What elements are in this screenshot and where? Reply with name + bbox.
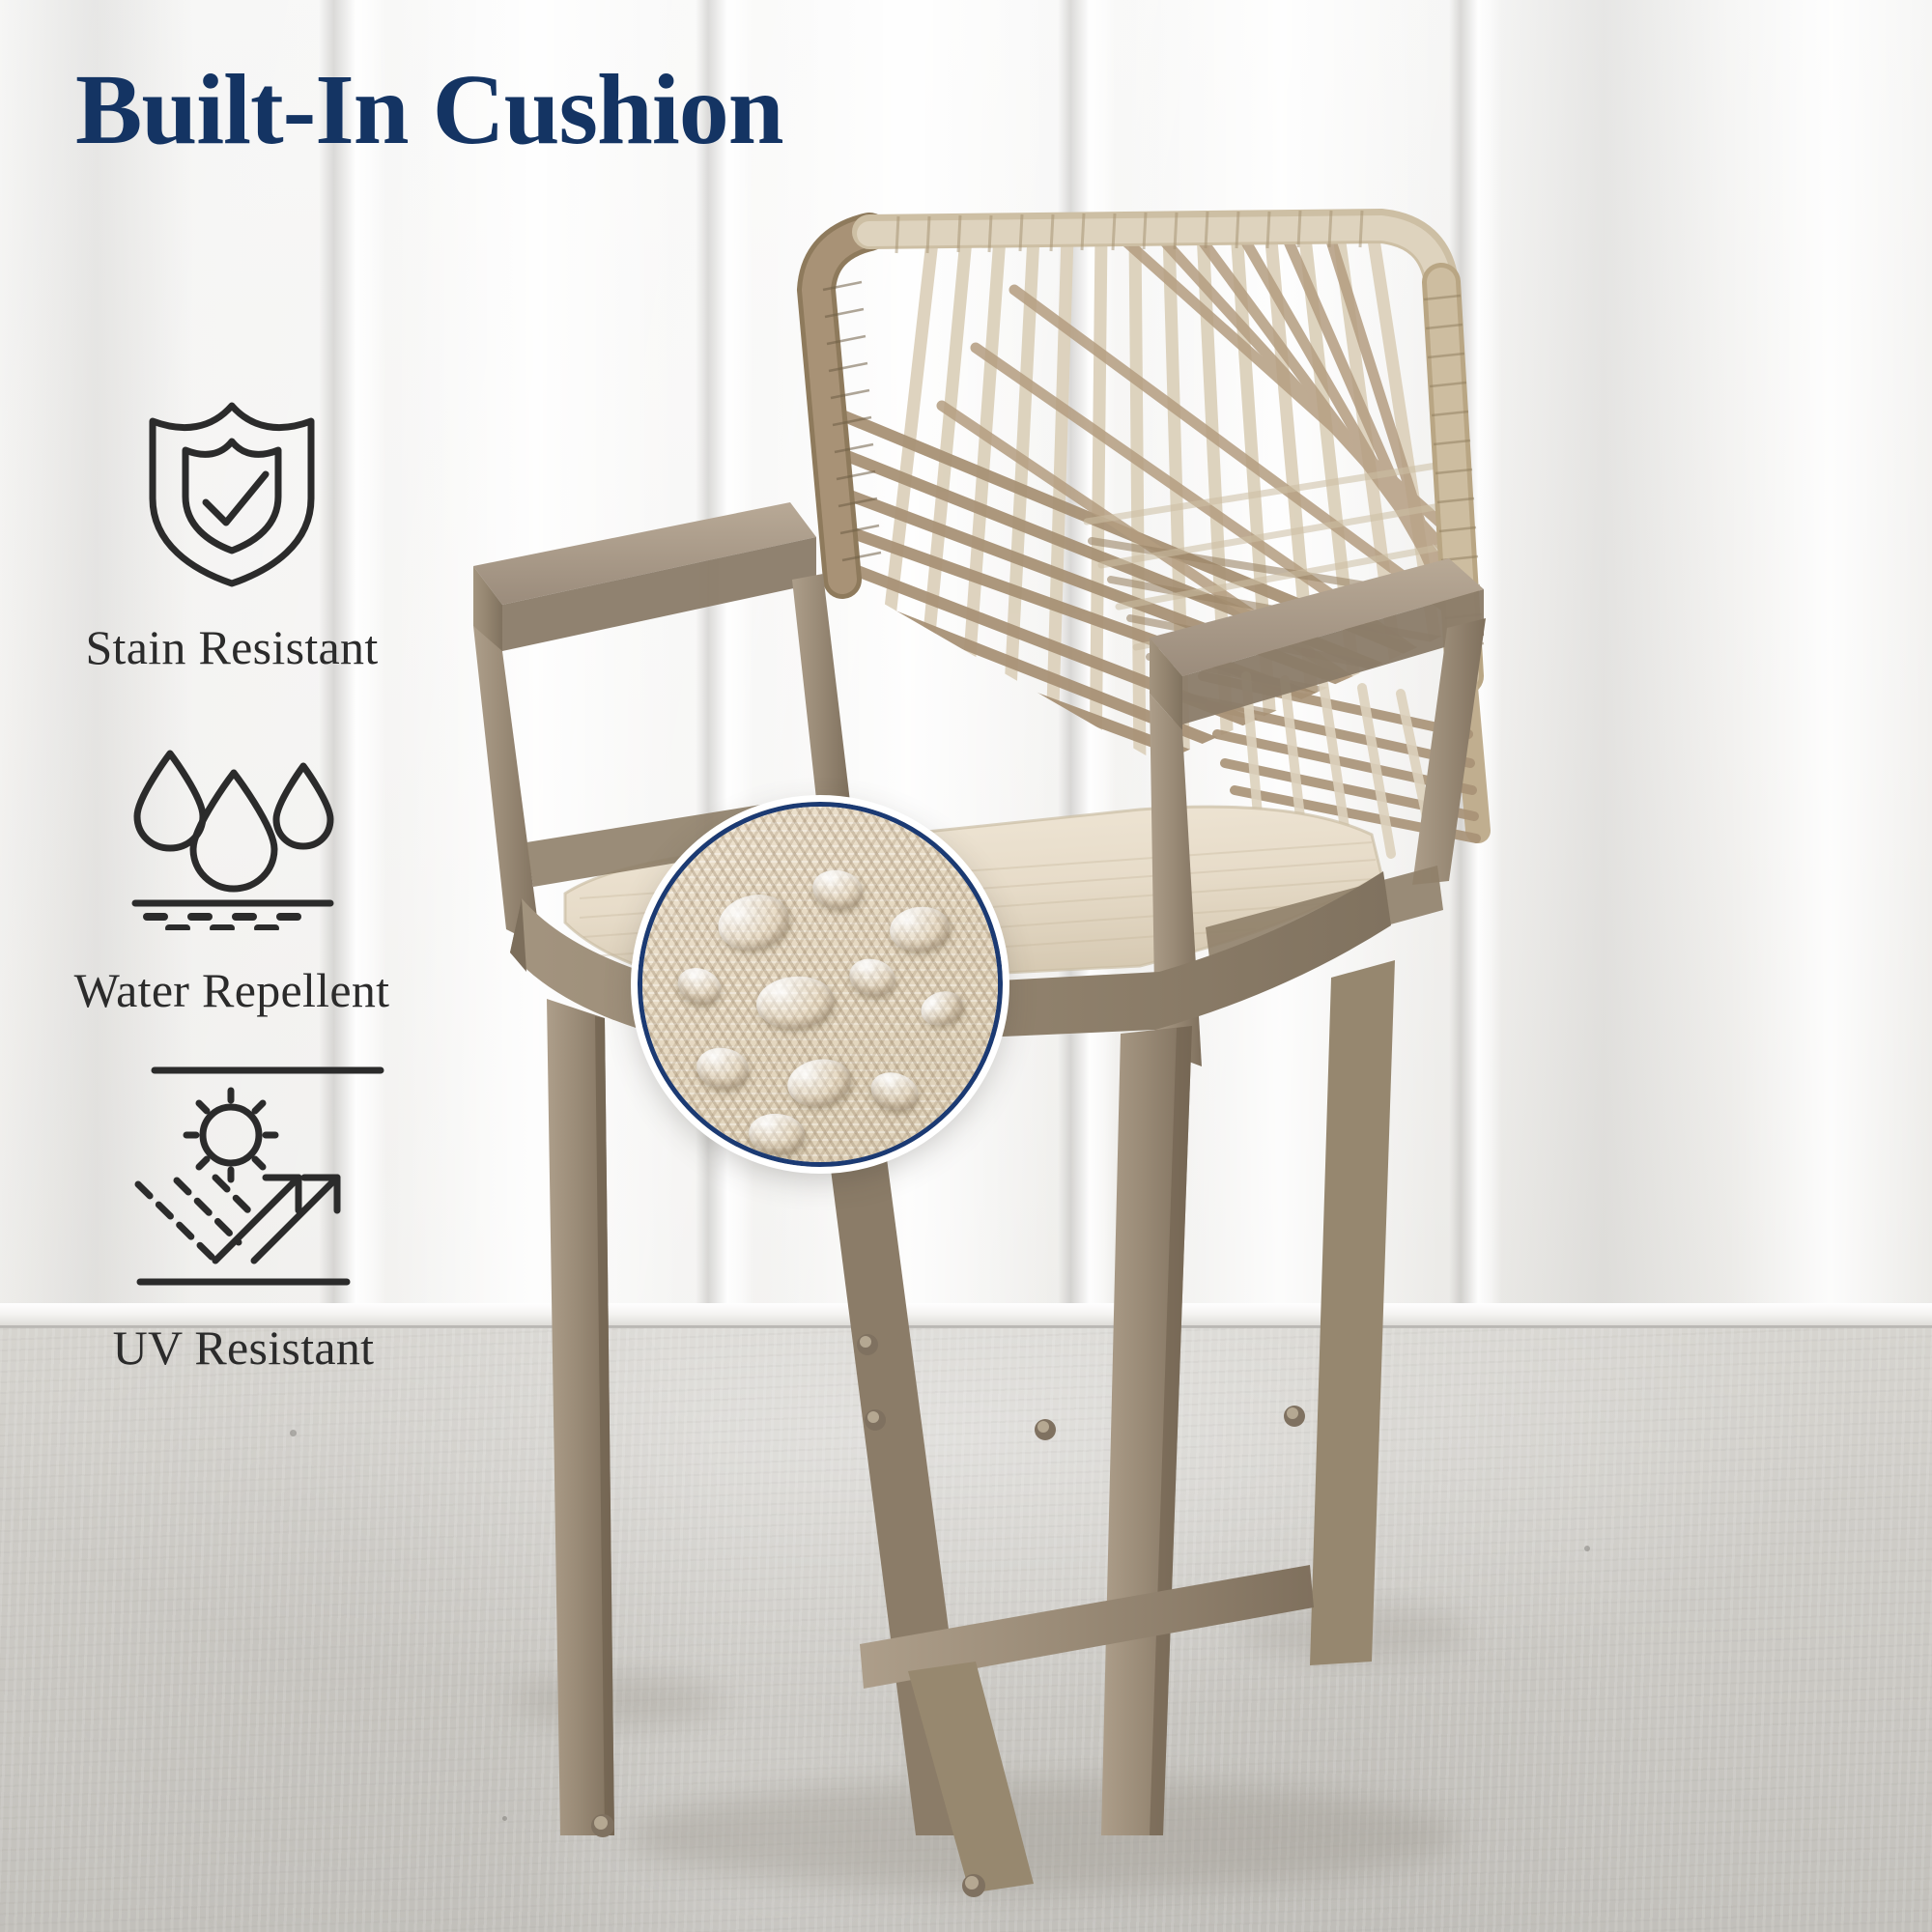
feature-label: UV Resistant (41, 1320, 446, 1376)
left-arm-rear-post (792, 574, 850, 808)
water-repellent-base-line (147, 1039, 388, 1078)
bolt-highlight (860, 1336, 871, 1348)
shield-check-icon (140, 394, 324, 587)
left-arm-front-post (473, 626, 541, 947)
product-feature-graphic: Built-In Cushion Stain Resistant (0, 0, 1932, 1932)
feature-label: Water Repellent (29, 962, 435, 1018)
feature-water-repellent: Water Repellent (29, 729, 435, 1018)
feature-icon-slot (29, 386, 435, 594)
page-title: Built-In Cushion (75, 54, 783, 166)
water-droplets-icon (116, 737, 348, 930)
back-right-leg (1310, 960, 1395, 1665)
bolt-highlight (867, 1411, 879, 1423)
feature-icon-slot (29, 729, 435, 937)
feature-icon-slot (41, 1087, 446, 1294)
feature-stain-resistant: Stain Resistant (29, 386, 435, 675)
chair-floor-shadow (628, 1779, 1459, 1891)
feature-label: Stain Resistant (29, 619, 435, 675)
bolt-highlight (965, 1876, 979, 1889)
chair-floor-shadow (512, 1675, 724, 1725)
feature-uv-resistant: UV Resistant (41, 1087, 446, 1376)
fabric-water-beading-detail (638, 802, 1003, 1167)
uv-sun-reflect-icon (123, 1087, 364, 1294)
bolt-highlight (594, 1816, 608, 1830)
bolt-highlight (1287, 1407, 1298, 1419)
bolt-highlight (1037, 1421, 1049, 1433)
